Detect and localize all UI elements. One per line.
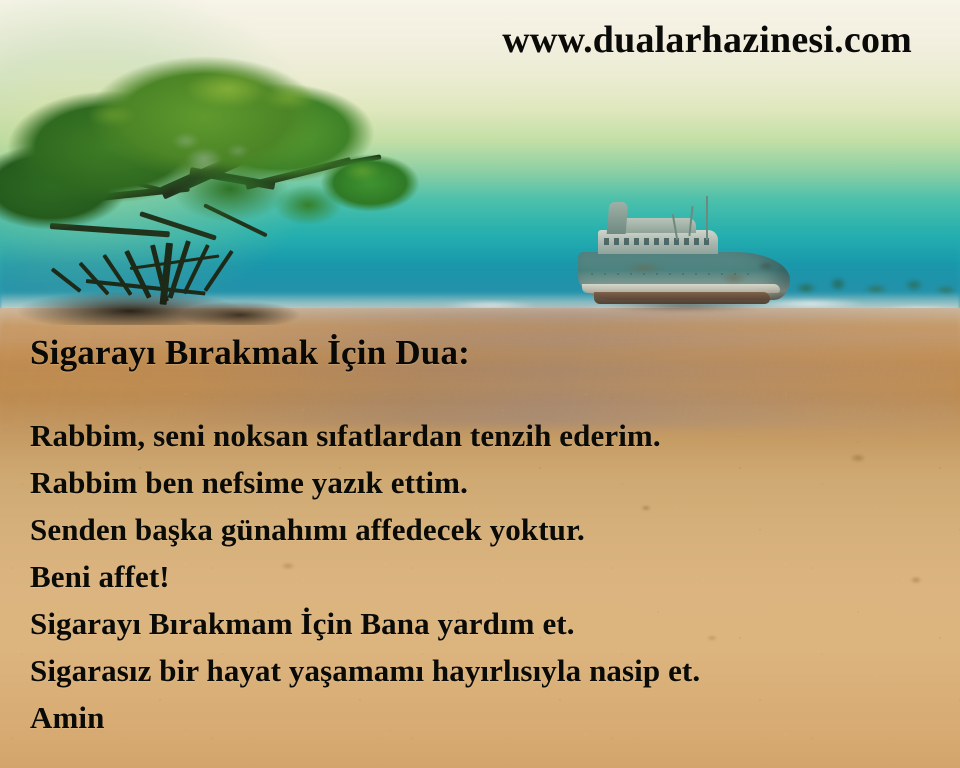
ship-foremast [706, 196, 708, 240]
site-watermark: www.dualarhazinesi.com [0, 21, 912, 59]
ship-window-row [604, 238, 712, 245]
prayer-line: Sigarasız bir hayat yaşamamı hayırlısıyl… [30, 647, 950, 694]
prayer-line: Rabbim, seni noksan sıfatlardan tenzih e… [30, 412, 950, 459]
prayer-line: Senden başka günahımı affedecek yoktur. [30, 506, 950, 553]
quote-graphic: www.dualarhazinesi.com Sigarayı Bırakmak… [0, 0, 960, 768]
prayer-text: Rabbim, seni noksan sıfatlardan tenzih e… [30, 412, 950, 741]
shipwreck [578, 200, 808, 318]
mangrove-tree [0, 55, 420, 325]
tree-root-mass [0, 245, 330, 325]
prayer-line: Rabbim ben nefsime yazık ettim. [30, 459, 950, 506]
ship-funnel [607, 202, 629, 234]
ship-rust-stains [584, 256, 784, 300]
prayer-line: Beni affet! [30, 553, 950, 600]
prayer-line: Amin [30, 694, 950, 741]
page-title: Sigarayı Bırakmak İçin Dua: [30, 334, 470, 373]
ship-deckhouse [622, 218, 696, 233]
prayer-line: Sigarayı Bırakmam İçin Bana yardım et. [30, 600, 950, 647]
